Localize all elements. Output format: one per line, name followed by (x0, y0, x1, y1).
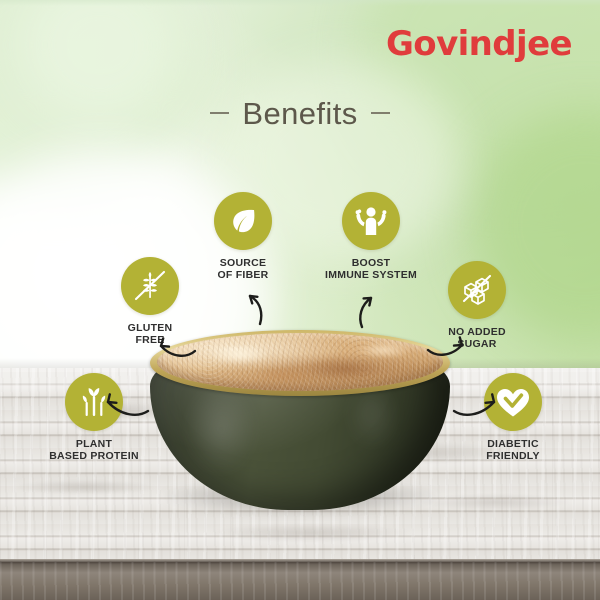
title-dash-left (210, 112, 229, 114)
title-dash-right (371, 112, 390, 114)
powder-lump (307, 357, 383, 381)
page-title: Benefits (0, 96, 600, 132)
page-title-text: Benefits (242, 96, 357, 131)
powder-lump (209, 345, 271, 365)
pointer-arrow-no-added-sugar (425, 330, 471, 365)
table-front-edge (0, 562, 600, 600)
bowl-highlight (184, 382, 258, 476)
pointer-arrow-boost-immune-system (352, 289, 382, 334)
pointer-arrow-diabetic-friendly (450, 392, 502, 425)
wheat-crossed-icon (130, 266, 170, 306)
leaf-icon (226, 204, 260, 238)
product-benefits-graphic: Govindjee Benefits SOURCEOF FIBER (0, 0, 600, 600)
pointer-arrow-gluten-free (152, 331, 198, 366)
brand-logo: Govindjee (386, 24, 572, 64)
wood-knot (15, 480, 155, 494)
wood-knot (210, 524, 410, 542)
badge-label: PLANTBASED PROTEIN (20, 438, 168, 463)
badge-circle (121, 257, 179, 315)
top-edge-shade (0, 0, 600, 6)
badge-circle (342, 192, 400, 250)
pointer-arrow-source-of-fiber (240, 286, 270, 331)
sugar-cubes-crossed-icon (457, 270, 497, 310)
pointer-arrow-plant-based-protein (100, 392, 152, 425)
strong-person-icon (353, 204, 389, 238)
powder-lump (253, 367, 317, 383)
badge-label: DIABETICFRIENDLY (440, 438, 586, 463)
badge-circle (214, 192, 272, 250)
powder-lump (355, 341, 413, 359)
badge-circle (448, 261, 506, 319)
